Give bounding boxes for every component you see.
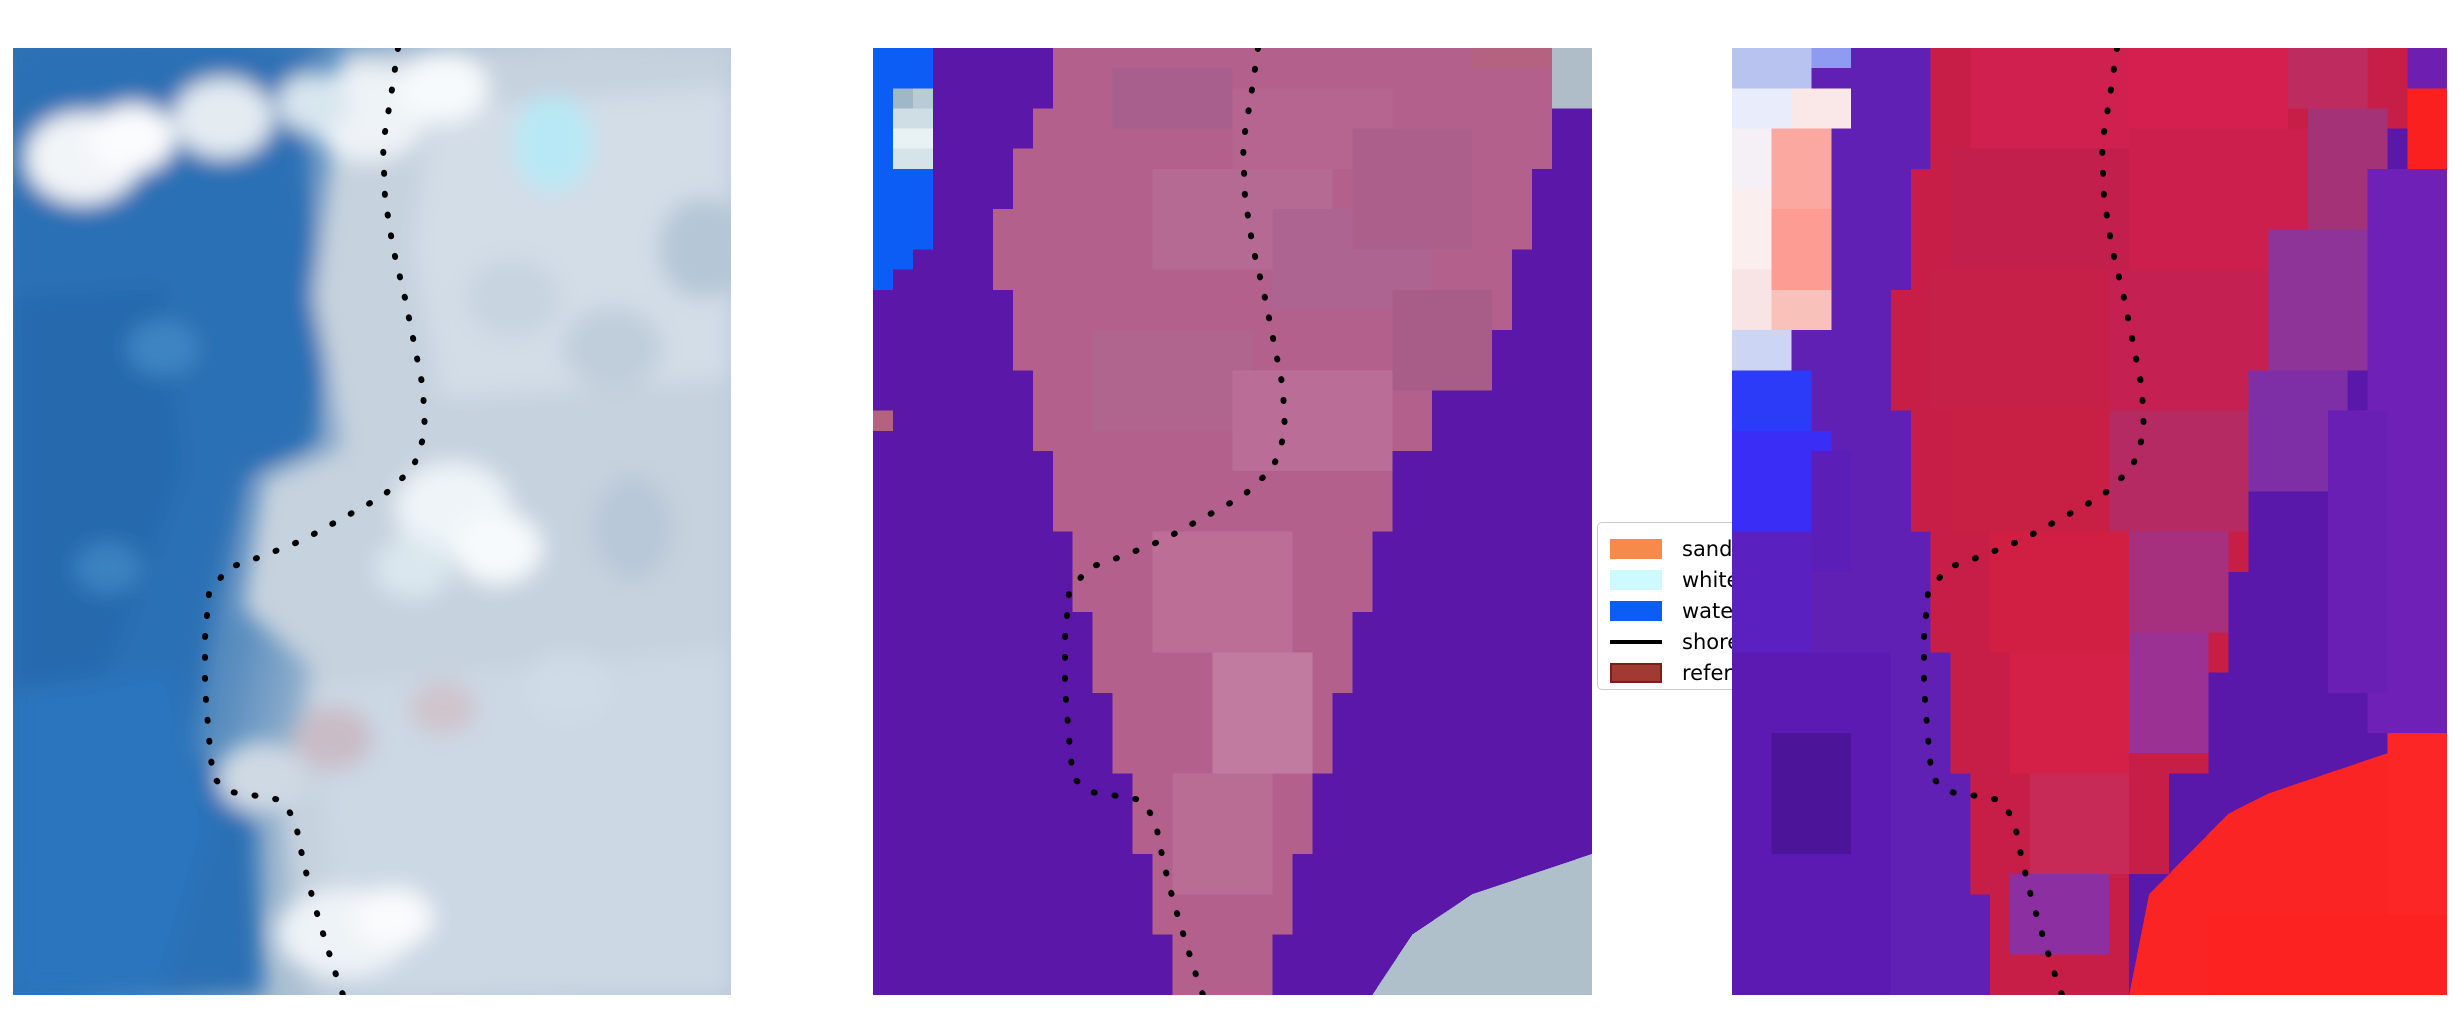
whitewater-swatch [1610, 570, 1668, 590]
sar-raster [13, 48, 731, 995]
water-swatch [1610, 601, 1668, 621]
legend-label-sand: sand [1682, 537, 1732, 561]
figure-canvas: sar2421 [0, 0, 2460, 1010]
panel-l5-clip-cover: L5 [1732, 48, 2447, 995]
panel-classified-image[interactable]: 1997-05-03-09-27-54 [873, 48, 1592, 995]
shoreline-swatch [1610, 640, 1668, 644]
shoreline-overlay-panel3-cover [1732, 48, 2447, 995]
sand-swatch [1610, 539, 1668, 559]
panel-sar-image[interactable]: sar2421 [13, 48, 731, 995]
classified-raster [873, 48, 1592, 995]
reference-shoreline-swatch [1610, 663, 1668, 683]
